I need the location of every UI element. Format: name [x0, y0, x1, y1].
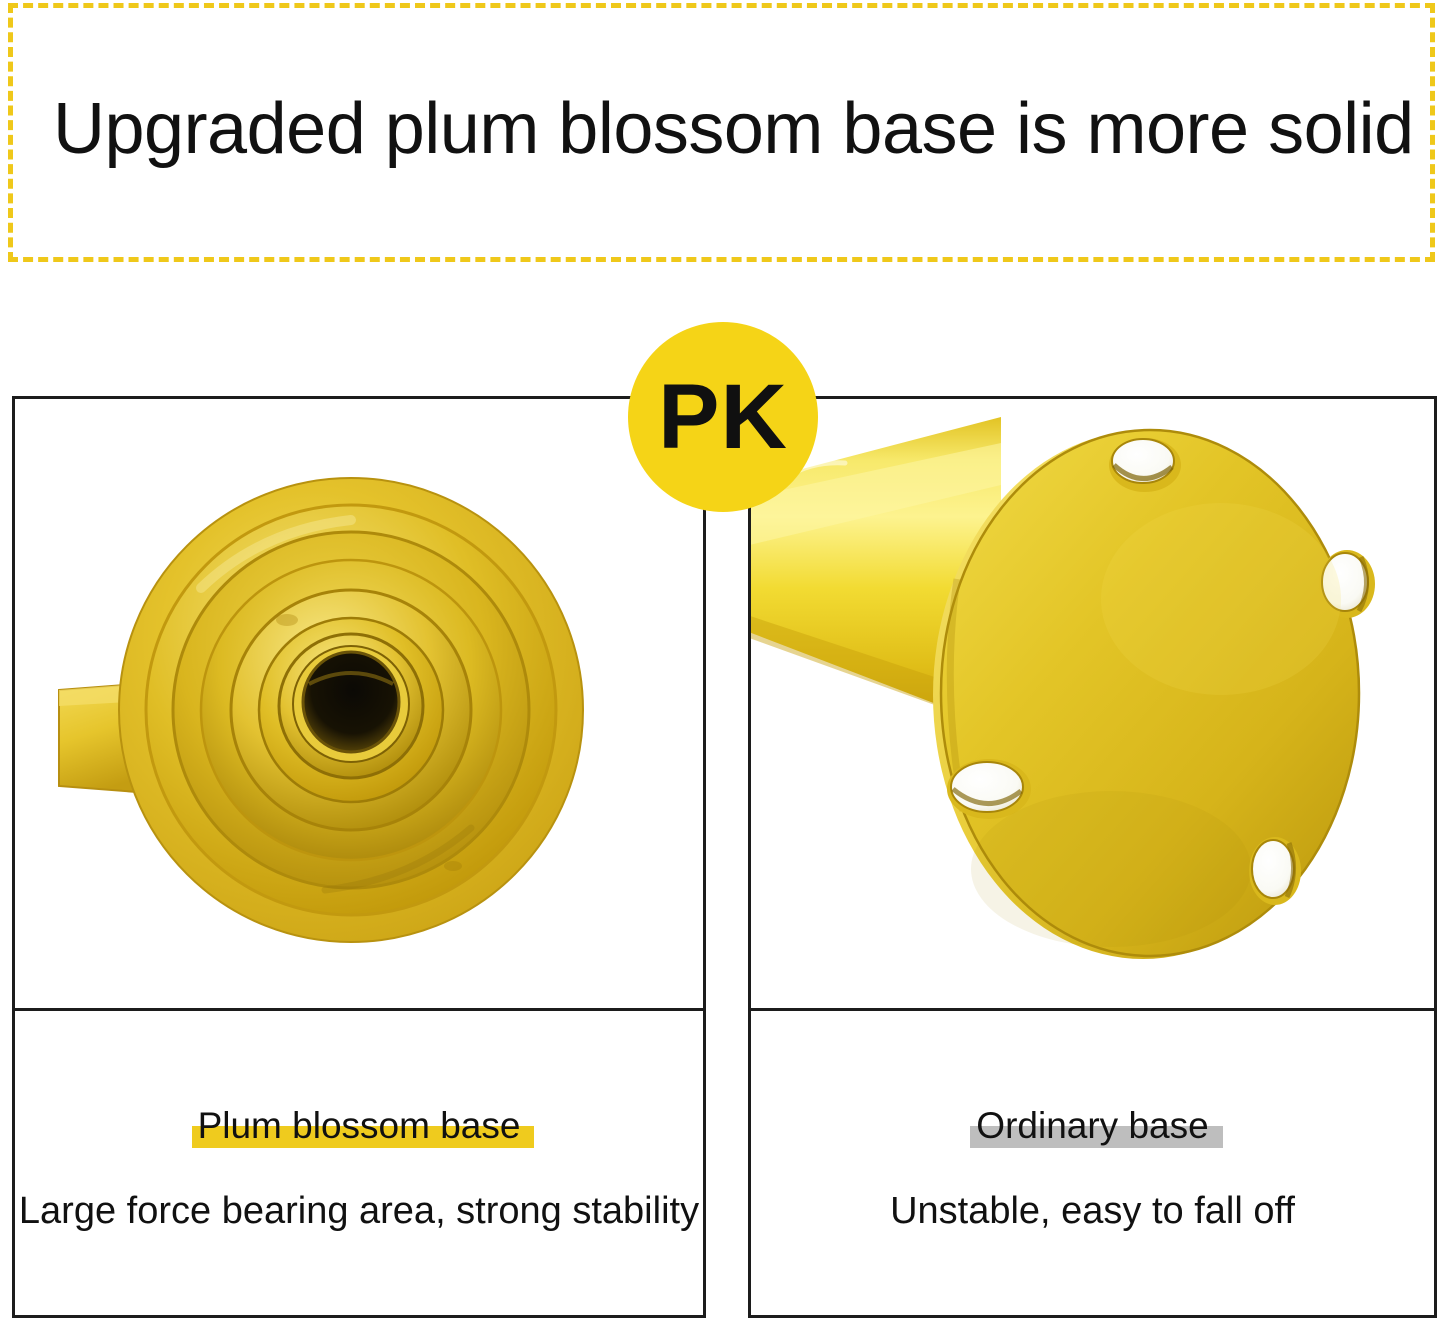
- comparison-panel-left: Plum blossom base Large force bearing ar…: [12, 396, 706, 1318]
- ordinary-base-illustration: [751, 399, 1434, 1008]
- title-banner: Upgraded plum blossom base is more solid: [8, 3, 1435, 262]
- pk-versus-badge: PK: [628, 322, 818, 512]
- bolt-hole-bottom-right: [1249, 837, 1301, 905]
- product-image-plum-blossom-base: [15, 399, 703, 1008]
- caption-block-left: Plum blossom base Large force bearing ar…: [15, 1011, 703, 1315]
- bolt-hole-left-lower: [947, 759, 1031, 819]
- bolt-hole-top: [1109, 438, 1181, 492]
- caption-title-right-wrap: Ordinary base: [976, 1107, 1208, 1144]
- infographic-canvas: Upgraded plum blossom base is more solid: [0, 0, 1445, 1329]
- caption-block-right: Ordinary base Unstable, easy to fall off: [751, 1011, 1434, 1315]
- caption-title-left: Plum blossom base: [198, 1105, 521, 1146]
- pk-badge-label: PK: [658, 371, 788, 463]
- caption-subtitle-left: Large force bearing area, strong stabili…: [19, 1190, 699, 1233]
- caption-subtitle-right: Unstable, easy to fall off: [890, 1190, 1295, 1233]
- product-image-ordinary-base: [751, 399, 1434, 1008]
- comparison-panel-right: Ordinary base Unstable, easy to fall off: [748, 396, 1437, 1318]
- page-title: Upgraded plum blossom base is more solid: [53, 90, 1414, 168]
- plum-blossom-base-illustration: [51, 438, 651, 978]
- caption-title-right: Ordinary base: [976, 1105, 1208, 1146]
- caption-title-left-wrap: Plum blossom base: [198, 1107, 521, 1144]
